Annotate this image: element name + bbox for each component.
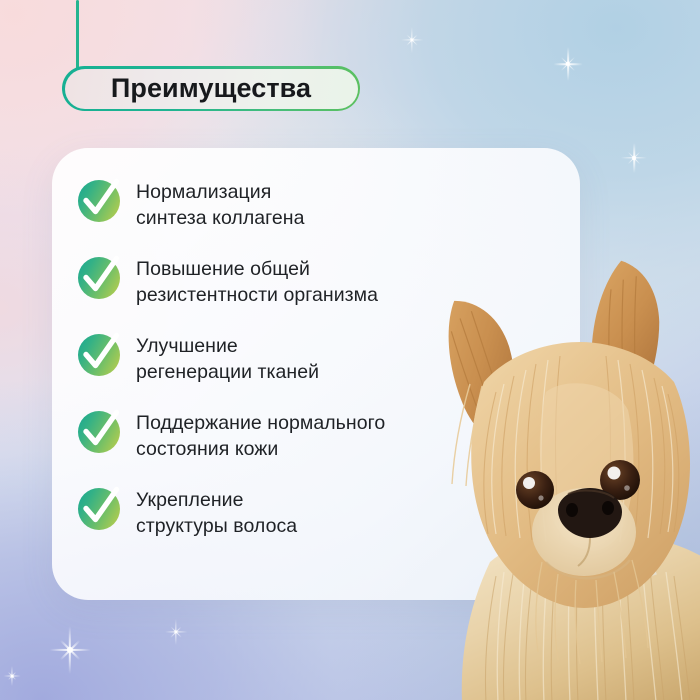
benefit-item-label: Улучшение регенерации тканей [136,332,319,385]
benefit-item-label: Укрепление структуры волоса [136,486,297,539]
section-title-badge: Преимущества [62,66,360,111]
benefits-card: Нормализация синтеза коллагенаПовышение … [52,148,580,600]
section-title-badge-inner: Преимущества [65,69,358,109]
benefit-item-label: Нормализация синтеза коллагена [136,178,305,231]
header-stem-line [76,0,79,70]
benefit-item: Улучшение регенерации тканей [78,332,548,409]
check-circle-icon [78,180,120,222]
check-circle-icon [78,488,120,530]
benefit-item: Нормализация синтеза коллагена [78,178,548,255]
benefit-item-label: Повышение общей резистентности организма [136,255,378,308]
benefits-list: Нормализация синтеза коллагенаПовышение … [78,178,548,563]
benefit-item-label: Поддержание нормального состояния кожи [136,409,385,462]
benefit-item: Поддержание нормального состояния кожи [78,409,548,486]
benefit-item: Укрепление структуры волоса [78,486,548,563]
page-title: Преимущества [111,75,311,102]
check-circle-icon [78,334,120,376]
benefit-item: Повышение общей резистентности организма [78,255,548,332]
promo-slide: Преимущества Нормализация синтеза коллаг… [0,0,700,700]
check-circle-icon [78,257,120,299]
check-circle-icon [78,411,120,453]
